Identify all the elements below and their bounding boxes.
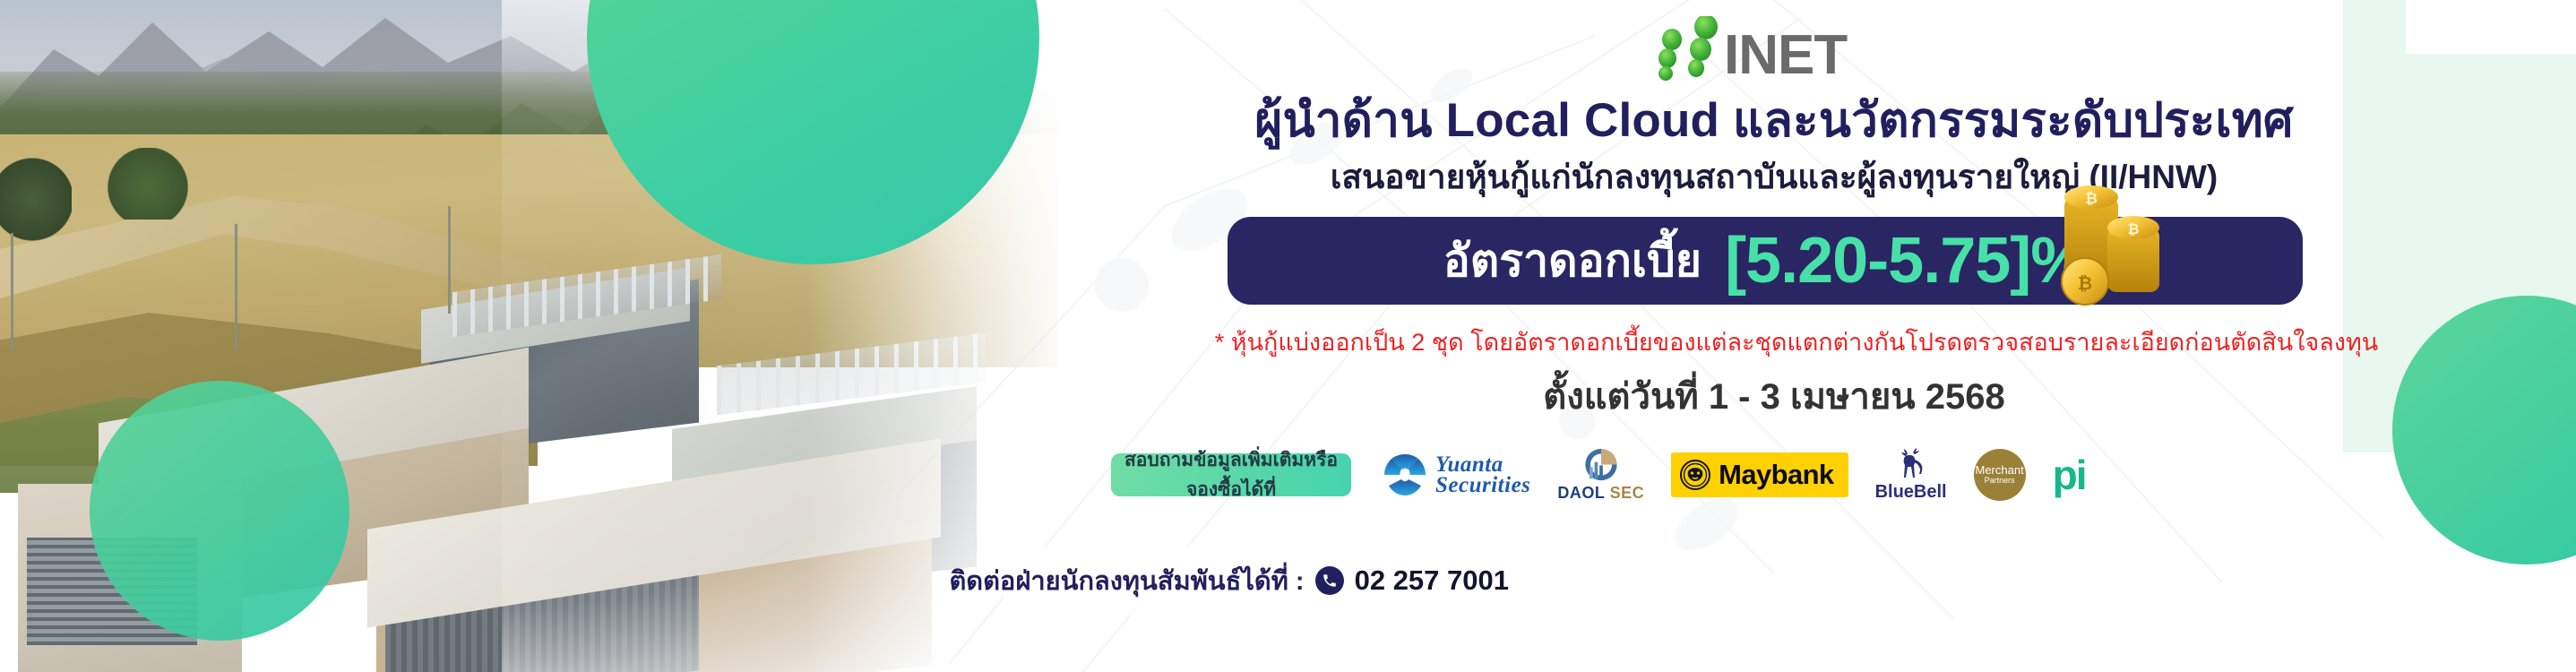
svg-text:₿: ₿ [2078, 274, 2092, 294]
bluebell-wordmark: BlueBell [1875, 482, 1947, 503]
svg-text:INET: INET [1724, 24, 1848, 81]
yuanta-wordmark: Yuanta Securities [1435, 454, 1530, 495]
inet-logo: INET [1631, 16, 1944, 81]
gold-coin-stack-icon: ₿ ₿ ₿ [2043, 176, 2177, 310]
partner-logo-pi[interactable]: pi [2053, 447, 2086, 503]
svg-text:₿: ₿ [2085, 190, 2098, 207]
green-circle-bottom-left [90, 381, 349, 641]
contact-cta-button[interactable]: สอบถามข้อมูลเพิ่มเติมหรือจองซื้อได้ที่ [1111, 453, 1351, 496]
interest-rate-value: [5.20-5.75]% [1725, 228, 2087, 293]
inet-bond-offering-banner: INET ผู้นำด้าน Local Cloud และนวัตกรรมระ… [0, 0, 2576, 672]
photo-pole [11, 233, 13, 349]
contact-phone-number[interactable]: 02 257 7001 [1355, 564, 1509, 597]
partner-logo-merchant-partners[interactable]: Merchant Partners [1974, 447, 2026, 503]
bluebell-deer-icon [1893, 447, 1929, 481]
partner-logo-daol[interactable]: DAOL SEC [1557, 447, 1644, 503]
svg-text:₿: ₿ [2127, 221, 2139, 237]
content-column: INET ผู้นำด้าน Local Cloud และนวัตกรรมระ… [1057, 0, 2576, 672]
offering-dates: ตั้งแต่วันที่ 1 - 3 เมษายน 2568 [1057, 367, 2491, 425]
cta-and-partners-row: สอบถามข้อมูลเพิ่มเติมหรือจองซื้อได้ที่ [1111, 444, 2563, 506]
pi-wordmark-icon: pi [2053, 459, 2086, 492]
page-title: ผู้นำด้าน Local Cloud และนวัตกรรมระดับปร… [1057, 82, 2491, 158]
yuanta-star-icon [1382, 452, 1428, 498]
page-subtitle: เสนอขายหุ้นกู้แก่นักลงทุนสถาบันและผู้ลงท… [1057, 151, 2491, 203]
merchant-circle-icon: Merchant Partners [1974, 449, 2026, 501]
interest-rate-label: อัตราดอกเบี้ย [1443, 238, 1702, 283]
contact-label: ติดต่อฝ่ายนักลงทุนสัมพันธ์ได้ที่ : [949, 560, 1304, 601]
maybank-tiger-icon [1680, 460, 1710, 490]
disclaimer-text: * หุ้นกู้แบ่งออกเป็น 2 ชุด โดยอัตราดอกเบ… [1057, 323, 2536, 361]
investor-relations-contact-card: ติดต่อฝ่ายนักลงทุนสัมพันธ์ได้ที่ : 02 25… [1004, 547, 1532, 615]
partner-logo-yuanta[interactable]: Yuanta Securities [1382, 447, 1530, 503]
photo-tree [0, 157, 72, 242]
yuanta-line-1: Yuanta [1435, 454, 1530, 475]
partner-logo-list: Yuanta Securities DAOL SEC [1382, 447, 2086, 503]
inet-dots-logo: INET [1631, 16, 1944, 81]
maybank-wordmark: Maybank [1719, 459, 1833, 491]
phone-icon [1315, 566, 1344, 595]
merchant-line-1: Merchant [1976, 464, 2024, 477]
photo-pole [448, 206, 451, 314]
photo-pole [235, 224, 237, 349]
daol-wordmark: DAOL SEC [1557, 484, 1644, 503]
merchant-line-2: Partners [1985, 477, 2015, 485]
partner-logo-maybank[interactable]: Maybank [1671, 447, 1848, 503]
daol-pie-icon [1580, 447, 1623, 482]
photo-tree [108, 148, 188, 220]
yuanta-line-2: Securities [1435, 475, 1530, 495]
partner-logo-bluebell[interactable]: BlueBell [1875, 447, 1947, 503]
daol-label-secondary: SEC [1610, 484, 1645, 502]
daol-label-primary: DAOL [1557, 484, 1605, 502]
